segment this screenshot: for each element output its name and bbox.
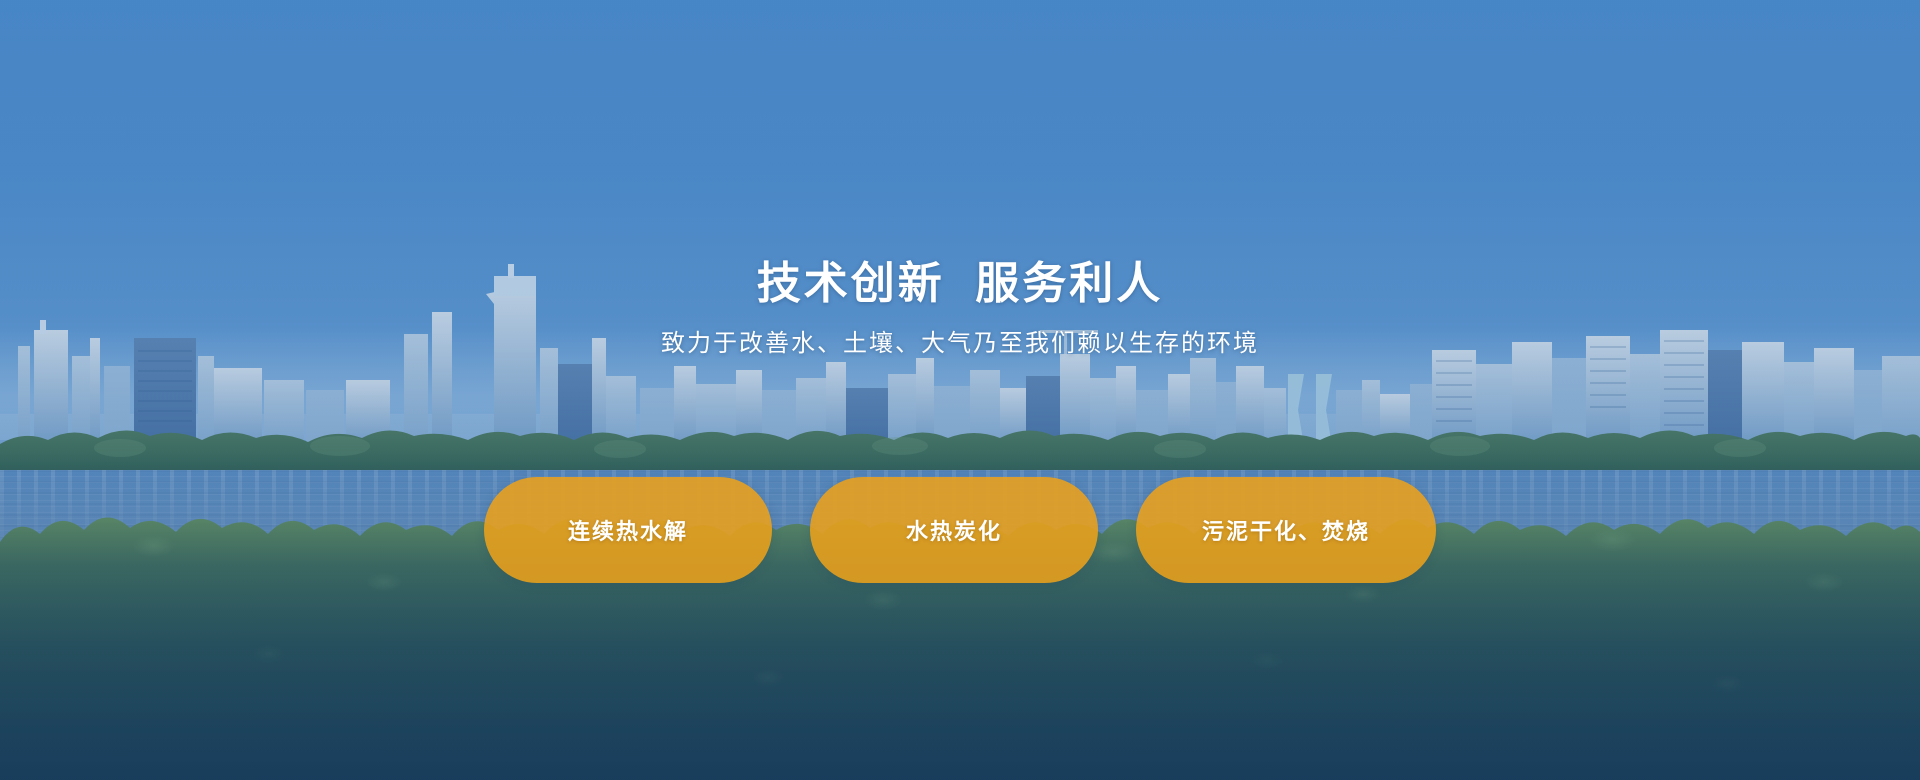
service-button-row: 连续热水解 水热炭化 污泥干化、焚烧 <box>0 477 1920 583</box>
hero-content: 技术创新 服务利人 致力于改善水、土壤、大气乃至我们赖以生存的环境 <box>0 0 1920 780</box>
service-button-sludge-drying-incineration[interactable]: 污泥干化、焚烧 <box>1136 477 1436 583</box>
page-subtitle: 致力于改善水、土壤、大气乃至我们赖以生存的环境 <box>661 332 1259 356</box>
service-button-continuous-thermal-hydrolysis[interactable]: 连续热水解 <box>484 477 772 583</box>
hero-banner: 技术创新 服务利人 致力于改善水、土壤、大气乃至我们赖以生存的环境 连续热水解 … <box>0 0 1920 780</box>
service-button-hydrothermal-carbonization[interactable]: 水热炭化 <box>810 477 1098 583</box>
page-title: 技术创新 服务利人 <box>757 262 1163 306</box>
